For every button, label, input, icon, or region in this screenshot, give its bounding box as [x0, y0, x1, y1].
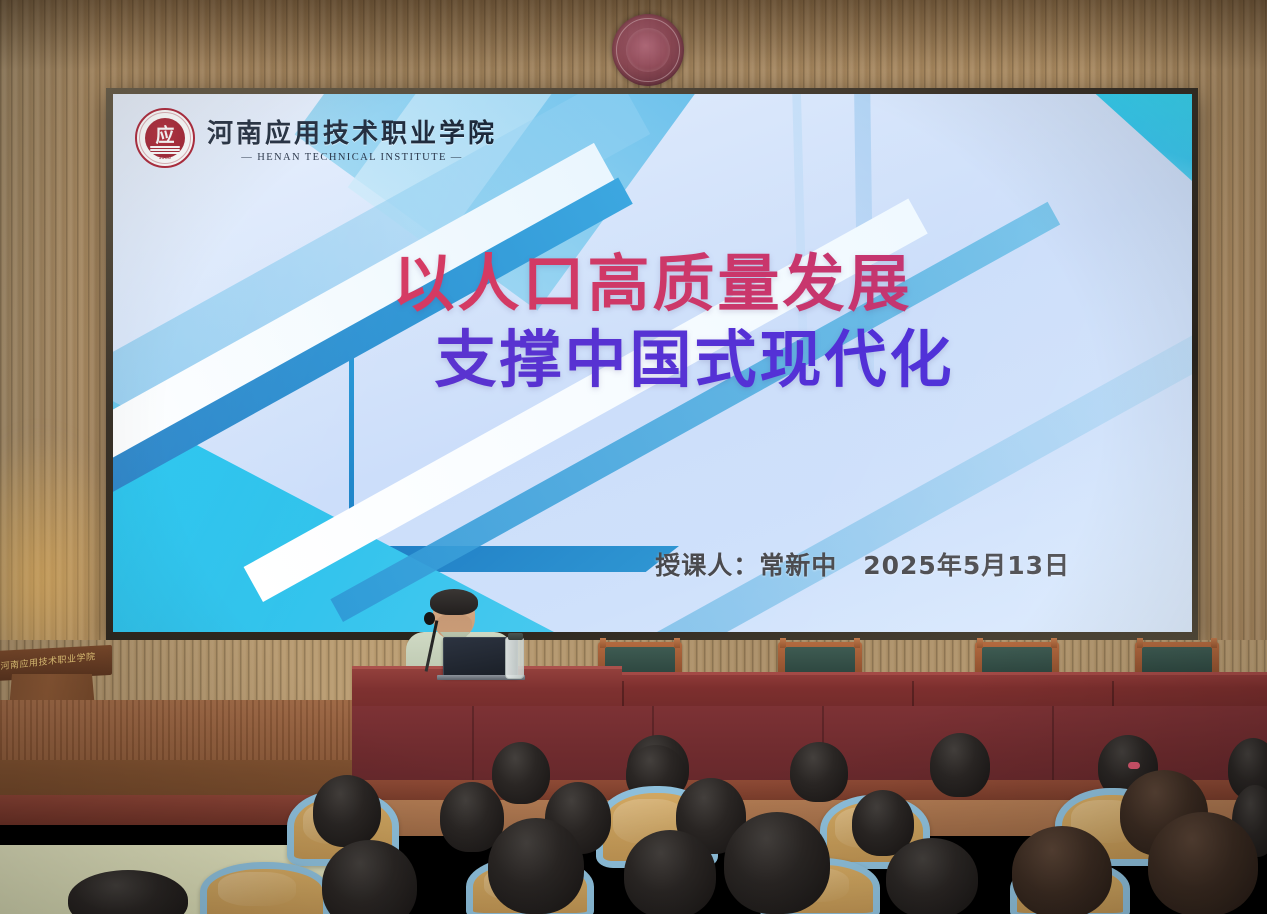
- byline-date: 2025年5月13日: [863, 551, 1070, 580]
- audience-head: [1012, 826, 1112, 914]
- institute-logo: 应 1958 河南应用技术职业学院 — HENAN TECHNICAL INST…: [135, 108, 497, 168]
- audience-head: [488, 818, 584, 914]
- wall-emblem-ring: [616, 18, 680, 82]
- seal-glyph: 应: [155, 126, 174, 145]
- audience-head: [492, 742, 550, 804]
- byline-name: 常新中: [759, 551, 837, 580]
- audience-head: [930, 733, 990, 797]
- audience-head: [624, 830, 716, 914]
- institute-name-block: 河南应用技术职业学院 — HENAN TECHNICAL INSTITUTE —: [207, 113, 497, 163]
- slide-title-line1: 以人口高质量发展: [113, 246, 1192, 322]
- institute-name-en: — HENAN TECHNICAL INSTITUTE —: [207, 152, 497, 163]
- lecture-hall-photo: 应 1958 河南应用技术职业学院 — HENAN TECHNICAL INST…: [0, 0, 1267, 914]
- stage-wood-panel: [0, 700, 352, 760]
- bottle-cap: [508, 633, 523, 640]
- institute-seal-icon: 应 1958: [135, 108, 195, 168]
- chair-2: [778, 642, 862, 676]
- speaker-hair: [430, 589, 478, 615]
- audience-head: [322, 840, 417, 914]
- hair-tie: [1128, 762, 1140, 769]
- presentation-slide: 应 1958 河南应用技术职业学院 — HENAN TECHNICAL INST…: [113, 94, 1192, 632]
- byline-label: 授课人：: [655, 551, 759, 580]
- wall-emblem-icon: [612, 14, 684, 86]
- slide-title-line2: 支撑中国式现代化: [113, 322, 1192, 398]
- water-bottle: [505, 637, 524, 679]
- audience-head: [1148, 812, 1258, 914]
- podium-nameplate: 河南应用技术职业学院: [0, 649, 100, 674]
- projection-screen-frame: 应 1958 河南应用技术职业学院 — HENAN TECHNICAL INST…: [106, 88, 1198, 640]
- chair-3: [975, 642, 1059, 676]
- audience-head: [313, 775, 381, 847]
- audience-head: [724, 812, 830, 914]
- chair-4: [1135, 642, 1219, 676]
- institute-name-cn: 河南应用技术职业学院: [207, 113, 497, 150]
- seal-waves-icon: [150, 146, 180, 155]
- microphone-icon: [424, 612, 435, 625]
- slide-title-block: 以人口高质量发展 支撑中国式现代化: [113, 246, 1192, 397]
- corner-accent-cyan: [972, 94, 1192, 232]
- seal-year: 1958: [137, 155, 193, 161]
- audience-head: [886, 838, 978, 914]
- auditorium-seat: [200, 862, 330, 914]
- audience-head: [790, 742, 848, 802]
- slide-byline: 授课人：常新中2025年5月13日: [655, 546, 1070, 582]
